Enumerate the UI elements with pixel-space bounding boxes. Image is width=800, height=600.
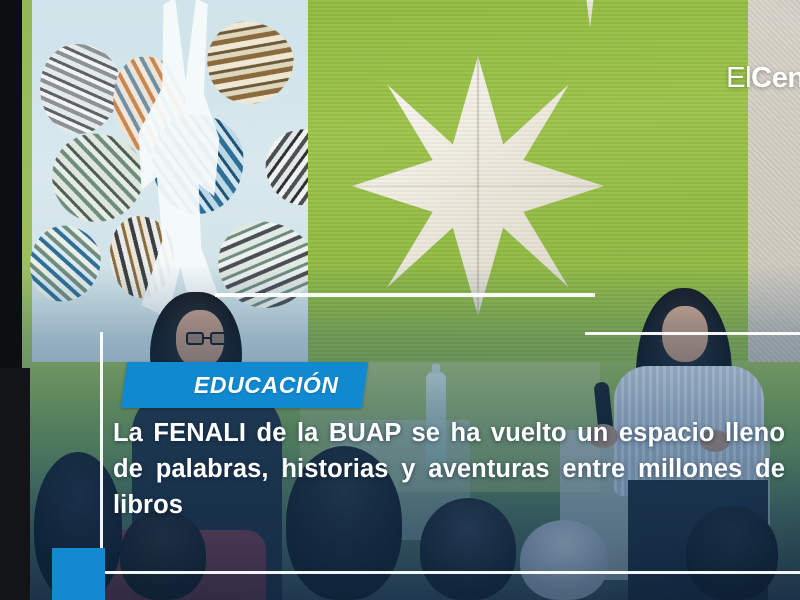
accent-blue-block [52, 548, 105, 600]
cover-stone-artwork [201, 15, 300, 111]
origami-star-icon [352, 56, 604, 316]
cover-stone-artwork [213, 216, 308, 313]
headline-frame-top-segment [585, 332, 800, 335]
audience-head [120, 510, 206, 600]
photo-left-edge-lower [0, 368, 30, 600]
eyeglasses-icon [186, 332, 230, 345]
cover-stone-artwork [40, 44, 120, 134]
origami-star-small-icon [570, 0, 610, 28]
audience-head [520, 520, 608, 600]
stage-wall [748, 0, 800, 366]
category-badge[interactable]: EDUCACIÓN [121, 362, 368, 408]
origami-star-fold-lines [352, 56, 604, 316]
site-logo[interactable]: ElCent [726, 62, 800, 95]
article-headline[interactable]: La FENALI de la BUAP se ha vuelto un esp… [113, 415, 785, 523]
cover-stone-artwork [23, 220, 107, 309]
cover-stone-artwork [258, 121, 308, 214]
site-logo-light-part: El [726, 62, 751, 94]
site-logo-bold-part: Cent [751, 62, 800, 94]
category-badge-label: EDUCACIÓN [194, 372, 339, 399]
news-hero-card: GABRIELA DAMIÁN MIRAVETE [0, 0, 800, 600]
top-divider-rule [215, 293, 595, 297]
headline-text: La FENALI de la BUAP se ha vuelto un esp… [113, 419, 785, 519]
